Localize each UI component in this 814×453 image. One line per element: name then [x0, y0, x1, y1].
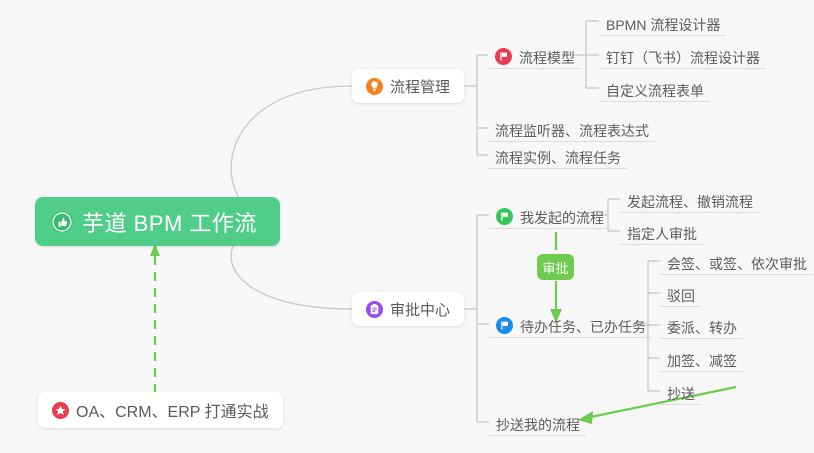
leaf-custom-form[interactable]: 自定义流程表单	[599, 74, 710, 102]
branch-approval-center-label: 审批中心	[390, 299, 450, 320]
root-label: 芋道 BPM 工作流	[82, 206, 257, 238]
node-todo-done[interactable]: 待办任务、已办任务	[489, 310, 652, 338]
leaf-bpmn-designer-label: BPMN 流程设计器	[606, 18, 720, 32]
floating-note-label: OA、CRM、ERP 打通实战	[76, 398, 269, 422]
leaf-reject[interactable]: 驳回	[660, 279, 701, 307]
root-node[interactable]: 芋道 BPM 工作流	[35, 197, 280, 246]
leaf-add-remove-sign-label: 加签、减签	[667, 354, 737, 368]
leaf-cc[interactable]: 抄送	[660, 377, 701, 405]
branch-approval-center[interactable]: 审批中心	[352, 292, 464, 326]
leaf-cc-label: 抄送	[667, 387, 695, 401]
leaf-add-remove-sign[interactable]: 加签、减签	[660, 344, 743, 372]
lightbulb-icon	[366, 78, 383, 95]
leaf-assigned-approval-label: 指定人审批	[627, 227, 697, 241]
leaf-bpmn-designer[interactable]: BPMN 流程设计器	[599, 8, 726, 36]
leaf-start-cancel-process-label: 发起流程、撤销流程	[627, 195, 753, 209]
clipboard-icon	[366, 301, 383, 318]
node-process-instance-label: 流程实例、流程任务	[495, 151, 621, 165]
leaf-custom-form-label: 自定义流程表单	[606, 84, 704, 98]
leaf-countersign[interactable]: 会签、或签、依次审批	[660, 247, 813, 275]
node-process-model-label: 流程模型	[519, 51, 575, 65]
flag-icon	[495, 48, 512, 65]
annotation-badge-label: 审批	[542, 258, 568, 277]
thumbs-up-icon	[51, 211, 73, 233]
node-my-started-label: 我发起的流程	[520, 211, 604, 225]
node-todo-done-label: 待办任务、已办任务	[520, 320, 646, 334]
flag-icon	[496, 208, 513, 225]
floating-note[interactable]: OA、CRM、ERP 打通实战	[38, 392, 283, 428]
leaf-delegate-transfer[interactable]: 委派、转办	[660, 311, 743, 339]
node-my-started[interactable]: 我发起的流程	[489, 201, 610, 229]
node-cc-to-me-label: 抄送我的流程	[496, 418, 580, 432]
branch-process-management-label: 流程管理	[390, 76, 450, 97]
node-cc-to-me[interactable]: 抄送我的流程	[489, 408, 586, 436]
leaf-reject-label: 驳回	[667, 289, 695, 303]
mindmap-canvas: 芋道 BPM 工作流 OA、CRM、ERP 打通实战 审批 流程管理	[0, 0, 814, 453]
leaf-countersign-label: 会签、或签、依次审批	[667, 257, 807, 271]
leaf-dingtalk-designer-label: 钉钉（飞书）流程设计器	[606, 51, 760, 65]
node-process-listener-label: 流程监听器、流程表达式	[495, 124, 649, 138]
leaf-delegate-transfer-label: 委派、转办	[667, 321, 737, 335]
leaf-dingtalk-designer[interactable]: 钉钉（飞书）流程设计器	[599, 41, 766, 69]
node-process-instance[interactable]: 流程实例、流程任务	[488, 141, 627, 169]
leaf-assigned-approval[interactable]: 指定人审批	[620, 217, 703, 245]
flag-icon	[496, 317, 513, 334]
node-process-listener[interactable]: 流程监听器、流程表达式	[488, 114, 655, 142]
branch-process-management[interactable]: 流程管理	[352, 69, 464, 103]
leaf-start-cancel-process[interactable]: 发起流程、撤销流程	[620, 185, 759, 213]
annotation-badge: 审批	[537, 254, 574, 280]
star-icon	[52, 402, 69, 419]
node-process-model[interactable]: 流程模型	[488, 41, 581, 69]
